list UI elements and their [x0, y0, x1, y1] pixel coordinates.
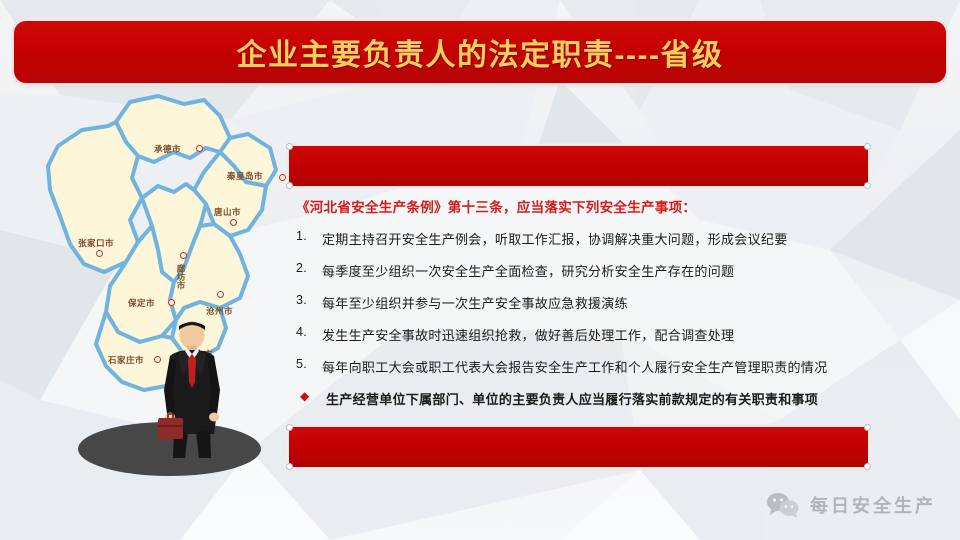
city-dot-zhangjiakou — [96, 250, 103, 257]
list-item-marker: 4. — [296, 325, 322, 339]
city-dot-chengde — [196, 145, 203, 152]
city-dot-cangzhou — [217, 291, 224, 298]
list-item-marker: 5. — [296, 357, 322, 371]
list-item: 1. 定期主持召开安全生产例会，听取工作汇报，协调解决重大问题，形成会议纪要 — [296, 229, 896, 248]
list-item-marker: 2. — [296, 261, 322, 275]
city-label-chengde: 承德市 — [154, 143, 181, 155]
city-label-qinhuangdao: 秦皇岛市 — [227, 170, 263, 182]
list-item: ◆ 生产经营单位下属部门、单位的主要负责人应当履行落实前款规定的有关职责和事项 — [296, 389, 896, 408]
city-dot-tangshan — [230, 219, 237, 226]
resize-handle[interactable] — [286, 182, 293, 189]
city-label-langfang: 廊坊市 — [175, 264, 187, 290]
list-item-text: 发生生产安全事故时迅速组织抢救，做好善后处理工作，配合调查处理 — [322, 325, 896, 344]
list-item: 2. 每季度至少组织一次安全生产全面检查，研究分析安全生产存在的问题 — [296, 261, 896, 280]
city-label-shijiazhuang: 石家庄市 — [108, 354, 144, 366]
city-label-zhangjiakou: 张家口市 — [78, 237, 114, 249]
city-dot-qinhuangdao — [279, 174, 286, 181]
city-label-baoding: 保定市 — [128, 297, 155, 309]
decorative-red-bar-bottom — [289, 427, 868, 467]
resize-handle[interactable] — [864, 424, 871, 431]
content-block: 《河北省安全生产条例》第十三条，应当落实下列安全生产事项： 1. 定期主持召开安… — [296, 196, 896, 421]
list-item-text: 每年向职工大会或职工代表大会报告安全生产工作和个人履行安全生产管理职责的情况 — [322, 357, 896, 376]
resize-handle[interactable] — [286, 143, 293, 150]
resize-handle[interactable] — [864, 143, 871, 150]
watermark: 每日安全生产 — [766, 492, 936, 518]
list-item: 4. 发生生产安全事故时迅速组织抢救，做好善后处理工作，配合调查处理 — [296, 325, 896, 344]
resize-handle[interactable] — [864, 463, 871, 470]
resize-handle[interactable] — [286, 463, 293, 470]
resize-handle[interactable] — [286, 424, 293, 431]
list-item-text: 每季度至少组织一次安全生产全面检查，研究分析安全生产存在的问题 — [322, 261, 896, 280]
page-title: 企业主要负责人的法定职责----省级 — [237, 30, 724, 74]
list-item-text: 每年至少组织并参与一次生产安全事故应急救援演练 — [322, 293, 896, 312]
list-item-text: 生产经营单位下属部门、单位的主要负责人应当履行落实前款规定的有关职责和事项 — [326, 389, 896, 408]
slide-canvas: 企业主要负责人的法定职责----省级 — [0, 0, 960, 540]
diamond-bullet-icon: ◆ — [296, 389, 326, 403]
list-item-marker: 1. — [296, 229, 322, 243]
title-banner: 企业主要负责人的法定职责----省级 — [14, 21, 946, 83]
businessman-figure — [140, 318, 244, 458]
city-dot-baoding — [168, 299, 175, 306]
list-item-text: 定期主持召开安全生产例会，听取工作汇报，协调解决重大问题，形成会议纪要 — [322, 229, 896, 248]
city-dot-langfang — [180, 252, 187, 259]
regulation-lead-text: 《河北省安全生产条例》第十三条，应当落实下列安全生产事项： — [296, 196, 896, 216]
list-item: 3. 每年至少组织并参与一次生产安全事故应急救援演练 — [296, 293, 896, 312]
decorative-red-bar-top — [289, 146, 868, 186]
list-item: 5. 每年向职工大会或职工代表大会报告安全生产工作和个人履行安全生产管理职责的情… — [296, 357, 896, 376]
city-label-tangshan: 唐山市 — [214, 206, 241, 218]
city-label-cangzhou: 沧州市 — [206, 305, 233, 317]
list-item-marker: 3. — [296, 293, 322, 307]
wechat-icon — [766, 492, 800, 518]
watermark-label: 每日安全生产 — [810, 492, 936, 518]
resize-handle[interactable] — [864, 182, 871, 189]
